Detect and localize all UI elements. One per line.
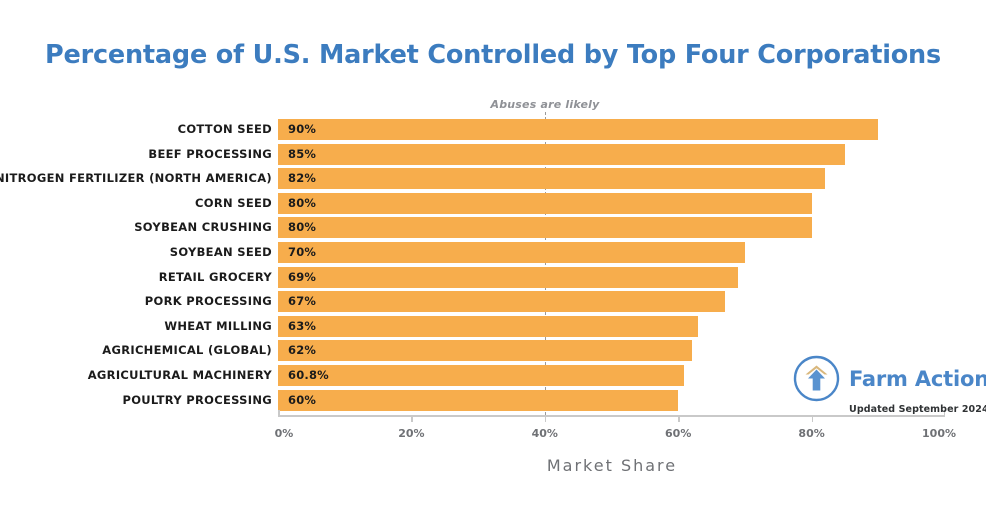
bar-soybean-crushing[interactable] <box>278 217 812 238</box>
bar-value-label: 69% <box>288 267 316 288</box>
x-axis-tick <box>545 415 547 422</box>
bar-value-label: 80% <box>288 217 316 238</box>
bar-value-label: 62% <box>288 340 316 361</box>
bar-row[interactable]: SOYBEAN SEED 70% <box>0 242 986 267</box>
bar-row[interactable]: RETAIL GROCERY 69% <box>0 267 986 292</box>
bar-value-label: 63% <box>288 316 316 337</box>
category-label: CORN SEED <box>195 193 272 214</box>
bar-row[interactable]: PORK PROCESSING 67% <box>0 291 986 316</box>
bar-corn-seed[interactable] <box>278 193 812 214</box>
x-axis-tick <box>678 415 680 422</box>
bar-row[interactable]: NITROGEN FERTILIZER (NORTH AMERICA) 82% <box>0 168 986 193</box>
bar-value-label: 85% <box>288 144 316 165</box>
brand-name: Farm Action <box>849 367 986 391</box>
axis-cap-left <box>278 410 280 416</box>
x-axis-tick <box>812 415 814 422</box>
bar-agricultural-machinery[interactable] <box>278 365 684 386</box>
bar-retail-grocery[interactable] <box>278 267 738 288</box>
category-label: SOYBEAN SEED <box>170 242 272 263</box>
bar-nitrogen-fertilizer[interactable] <box>278 168 825 189</box>
threshold-annotation-label: Abuses are likely <box>490 98 599 111</box>
category-label: AGRICULTURAL MACHINERY <box>88 365 272 386</box>
category-label: AGRICHEMICAL (GLOBAL) <box>102 340 272 361</box>
updated-date: Updated September 2024 <box>849 404 986 415</box>
x-tick-label: 60% <box>665 427 691 440</box>
x-axis-line <box>278 415 945 417</box>
bar-value-label: 60% <box>288 390 316 411</box>
x-axis-title: Market Share <box>547 456 677 475</box>
bar-row[interactable]: CORN SEED 80% <box>0 193 986 218</box>
bar-value-label: 67% <box>288 291 316 312</box>
category-label: PORK PROCESSING <box>145 291 272 312</box>
farm-action-arrow-icon <box>793 355 840 402</box>
x-tick-label: 40% <box>532 427 558 440</box>
bar-value-label: 90% <box>288 119 316 140</box>
bar-poultry-processing[interactable] <box>278 390 678 411</box>
bar-soybean-seed[interactable] <box>278 242 745 263</box>
x-tick-label: 20% <box>398 427 424 440</box>
x-axis-tick <box>411 415 413 422</box>
bar-wheat-milling[interactable] <box>278 316 698 337</box>
category-label: SOYBEAN CRUSHING <box>134 217 272 238</box>
category-label: COTTON SEED <box>178 119 272 140</box>
bar-beef-processing[interactable] <box>278 144 845 165</box>
x-tick-label: 80% <box>798 427 824 440</box>
category-label: POULTRY PROCESSING <box>122 390 272 411</box>
bar-value-label: 82% <box>288 168 316 189</box>
bar-row[interactable]: BEEF PROCESSING 85% <box>0 144 986 169</box>
bar-agrichemical[interactable] <box>278 340 692 361</box>
category-label: RETAIL GROCERY <box>159 267 272 288</box>
bar-chart: Abuses are likely COTTON SEED 90% BEEF P… <box>0 0 986 519</box>
category-label: BEEF PROCESSING <box>148 144 272 165</box>
x-tick-label: 0% <box>275 427 294 440</box>
bar-value-label: 70% <box>288 242 316 263</box>
bar-cotton-seed[interactable] <box>278 119 878 140</box>
x-tick-label: 100% <box>922 427 956 440</box>
bar-row[interactable]: COTTON SEED 90% <box>0 119 986 144</box>
category-label: WHEAT MILLING <box>164 316 272 337</box>
category-label: NITROGEN FERTILIZER (NORTH AMERICA) <box>0 168 272 189</box>
bar-pork-processing[interactable] <box>278 291 725 312</box>
farm-action-logo[interactable]: Farm Action Updated September 2024 <box>793 355 986 415</box>
bar-row[interactable]: WHEAT MILLING 63% <box>0 316 986 341</box>
bar-value-label: 60.8% <box>288 365 329 386</box>
bar-value-label: 80% <box>288 193 316 214</box>
bar-row[interactable]: SOYBEAN CRUSHING 80% <box>0 217 986 242</box>
